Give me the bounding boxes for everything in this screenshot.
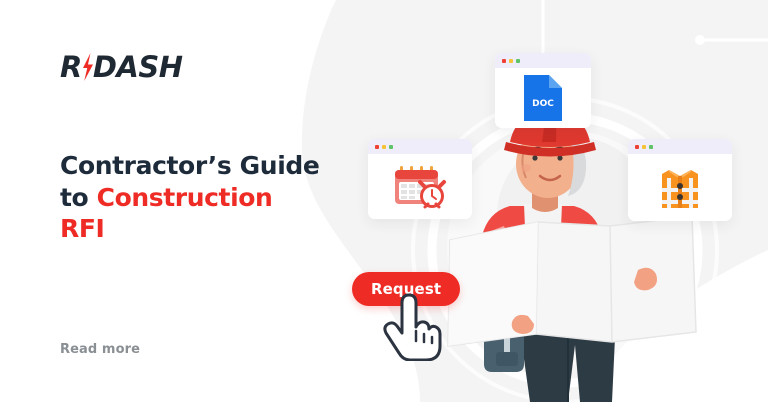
traffic-light-red-icon <box>502 59 506 63</box>
node-dot-icon <box>695 35 705 45</box>
logo-suffix-text: DASH <box>93 53 183 82</box>
request-button[interactable]: Request <box>352 272 460 306</box>
traffic-light-green-icon <box>649 145 653 149</box>
request-cta-group: Request <box>352 272 460 306</box>
card-calendar[interactable] <box>368 139 472 219</box>
headline-line-2-plain: to <box>60 183 97 212</box>
card-body <box>368 154 472 219</box>
doc-file-icon: DOC <box>524 75 562 121</box>
card-doc[interactable]: DOC <box>495 53 591 128</box>
headline-line-2-accent: Construction <box>97 183 273 212</box>
safety-vest-icon <box>656 164 704 212</box>
card-body <box>628 154 732 221</box>
card-safety-vest[interactable] <box>628 139 732 221</box>
traffic-light-yellow-icon <box>509 59 513 63</box>
traffic-light-green-icon <box>389 145 393 149</box>
traffic-light-green-icon <box>516 59 520 63</box>
hero-banner: R DASH Contractor’s Guide to Constructio… <box>0 0 768 402</box>
card-body: DOC <box>495 68 591 128</box>
doc-file-label: DOC <box>532 99 554 109</box>
card-titlebar <box>628 139 732 154</box>
traffic-light-red-icon <box>635 145 639 149</box>
brand-logo[interactable]: R DASH <box>60 50 183 84</box>
headline-line-1: Contractor’s Guide <box>60 151 319 180</box>
card-titlebar <box>495 53 591 68</box>
card-titlebar <box>368 139 472 154</box>
traffic-light-red-icon <box>375 145 379 149</box>
hero-text-column: R DASH Contractor’s Guide to Constructio… <box>0 0 340 402</box>
headline-line-3-accent: RFI <box>60 214 104 243</box>
read-more-link[interactable]: Read more <box>60 342 140 357</box>
traffic-light-yellow-icon <box>642 145 646 149</box>
lightning-bolt-icon <box>81 53 94 81</box>
page-title: Contractor’s Guide to Construction RFI <box>60 150 330 245</box>
calendar-clock-icon <box>391 164 449 210</box>
logo-prefix-text: R <box>60 53 82 82</box>
traffic-light-yellow-icon <box>382 145 386 149</box>
